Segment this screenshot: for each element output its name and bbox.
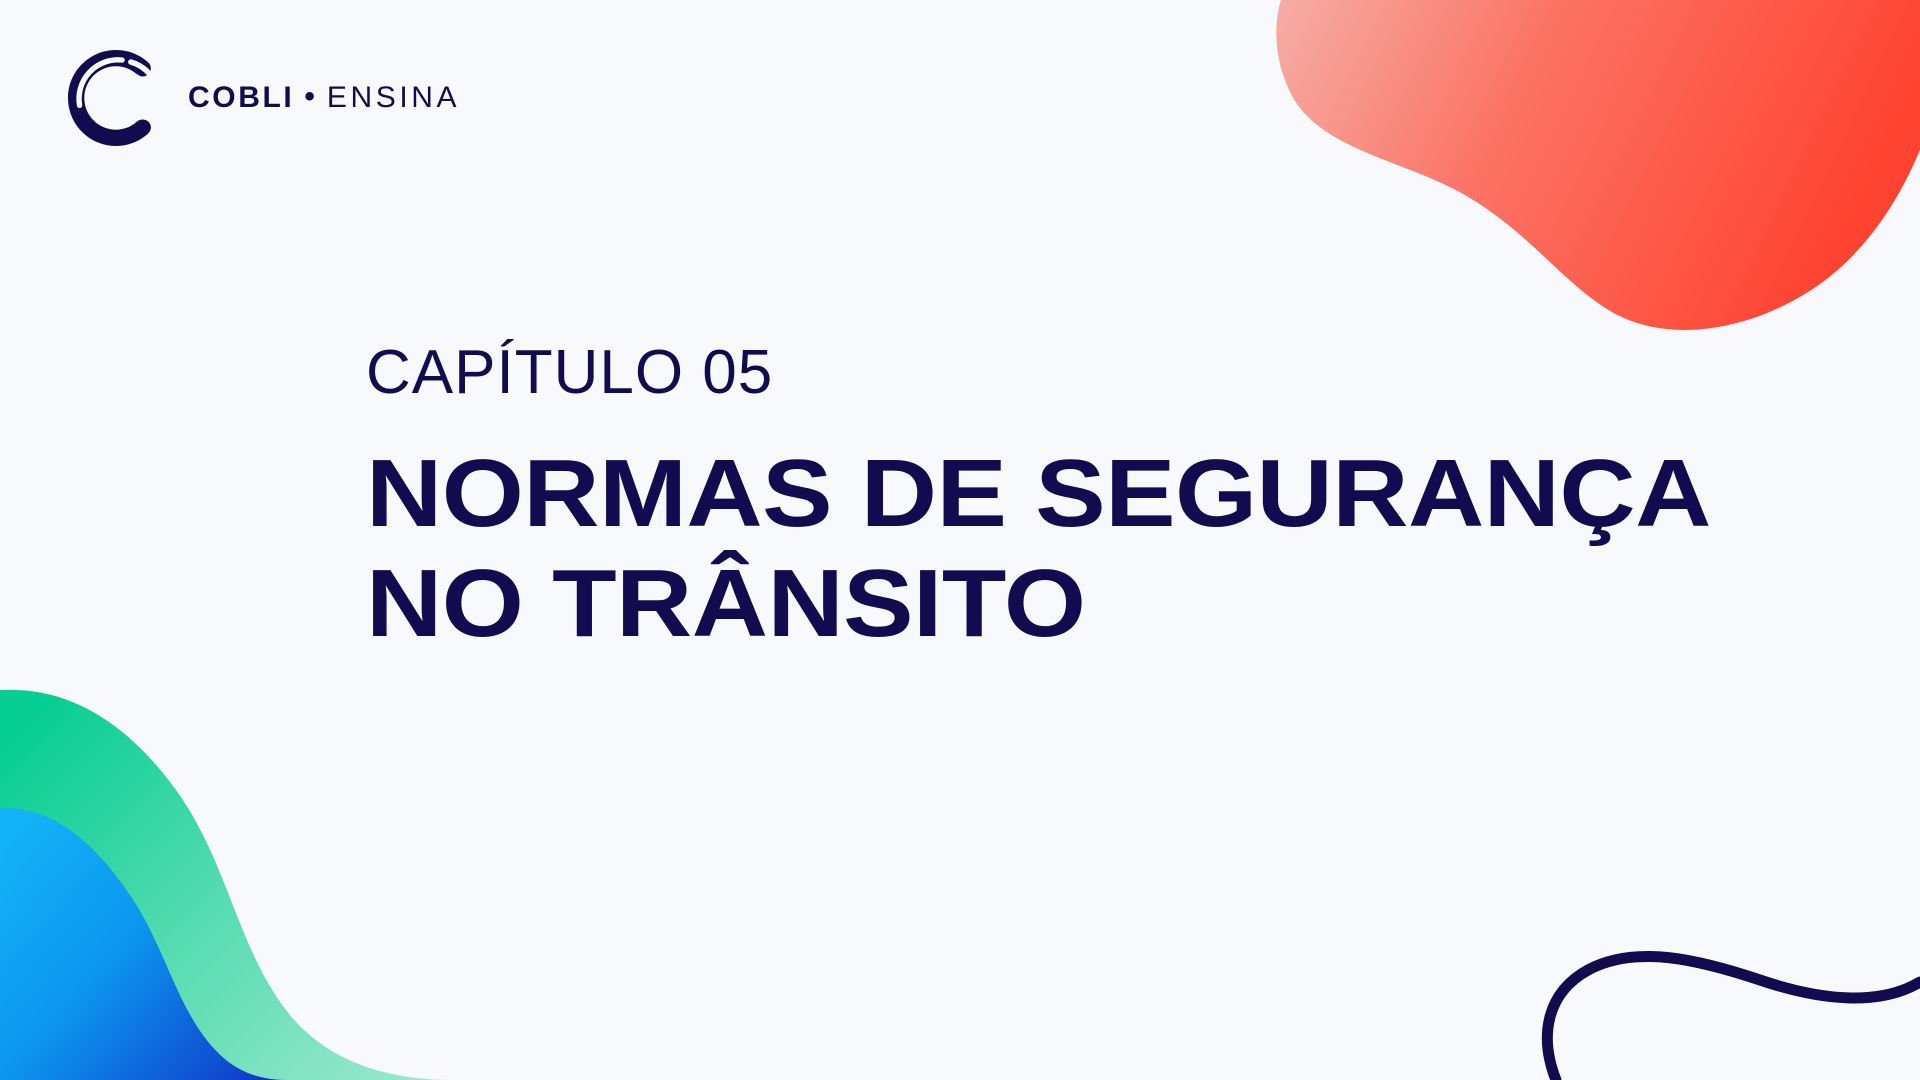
logo-wordmark: COBLI • ENSINA <box>188 83 460 113</box>
page-title-line-2: NO TRÂNSITO <box>366 549 1920 658</box>
page-title: NORMAS DE SEGURANÇA NO TRÂNSITO <box>366 439 1826 658</box>
coral-wave-shape <box>1276 0 1920 330</box>
blue-wave-shape <box>0 808 286 1080</box>
title-block: CAPÍTULO 05 NORMAS DE SEGURANÇA NO TRÂNS… <box>366 340 1846 658</box>
cobli-c-monogram-icon <box>64 46 168 150</box>
logo-separator-dot: • <box>304 82 315 112</box>
page-title-line-1: NORMAS DE SEGURANÇA <box>366 439 1920 548</box>
teal-wave-shape <box>0 690 452 1080</box>
slide-canvas: COBLI • ENSINA CAPÍTULO 05 NORMAS DE SEG… <box>0 0 1920 1080</box>
logo-brand-text: COBLI <box>188 83 294 113</box>
chapter-eyebrow: CAPÍTULO 05 <box>366 340 1846 405</box>
logo-sub-text: ENSINA <box>327 83 460 113</box>
navy-squiggle-line <box>1547 956 1920 1080</box>
brand-logo-lockup[interactable]: COBLI • ENSINA <box>64 48 460 148</box>
